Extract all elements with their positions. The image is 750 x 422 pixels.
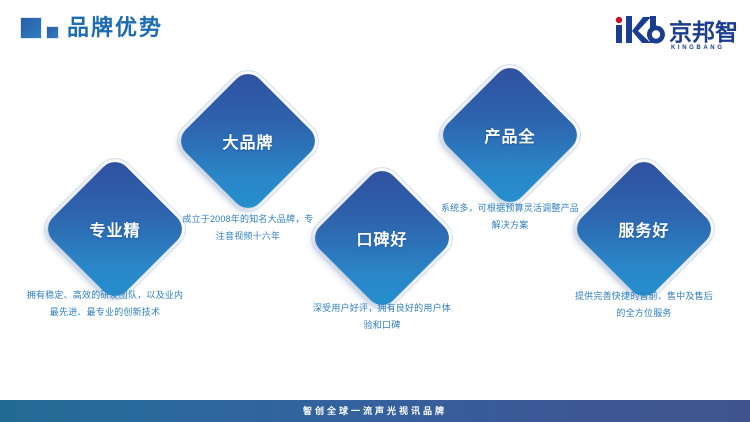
page-title: 品牌优势 <box>67 14 163 42</box>
brand-logo: 京邦智 KINGBANG <box>612 14 738 44</box>
logo-brand-cn: 京邦智 KINGBANG <box>669 21 738 44</box>
feature-label-4: 产品全 <box>458 83 562 187</box>
slide-footer: 智创全球一流声光视讯品牌 <box>0 398 750 422</box>
feature-desc-5: 提供完善快捷的售前、售中及售后的全方位服务 <box>572 288 716 322</box>
feature-diamond-1[interactable]: 专业精 <box>63 177 167 281</box>
feature-diamond-3[interactable]: 口碑好 <box>330 186 434 290</box>
feature-diamond-5[interactable]: 服务好 <box>592 177 696 281</box>
square-small-icon <box>46 26 59 39</box>
feature-label-3: 口碑好 <box>330 186 434 290</box>
feature-label-5: 服务好 <box>592 177 696 281</box>
kb-logomark-icon <box>612 16 666 44</box>
title-decoration <box>20 17 59 39</box>
feature-diamond-2[interactable]: 大品牌 <box>196 89 300 193</box>
square-large-icon <box>20 17 42 39</box>
footer-slogan: 智创全球一流声光视讯品牌 <box>303 403 447 417</box>
feature-label-1: 专业精 <box>63 177 167 281</box>
feature-desc-1: 拥有稳定、高效的研发团队，以及业内最先进、最专业的创新技术 <box>25 287 185 321</box>
feature-desc-3: 深受用户好评，拥有良好的用户体验和口碑 <box>310 300 454 334</box>
feature-desc-2: 成立于2008年的知名大品牌，专注音视频十六年 <box>180 211 316 245</box>
feature-desc-4: 系统多，可根据预算灵活调整产品解决方案 <box>440 200 580 234</box>
slide-header: 品牌优势 京邦智 KINGBANG <box>0 0 750 60</box>
logo-brand-cn-text: 京邦智 <box>669 19 738 45</box>
feature-label-2: 大品牌 <box>196 89 300 193</box>
slide-canvas: 品牌优势 京邦智 KINGBANG 专业精 拥有稳定 <box>0 0 750 422</box>
feature-diamond-4[interactable]: 产品全 <box>458 83 562 187</box>
logo-brand-latin: KINGBANG <box>671 45 724 52</box>
